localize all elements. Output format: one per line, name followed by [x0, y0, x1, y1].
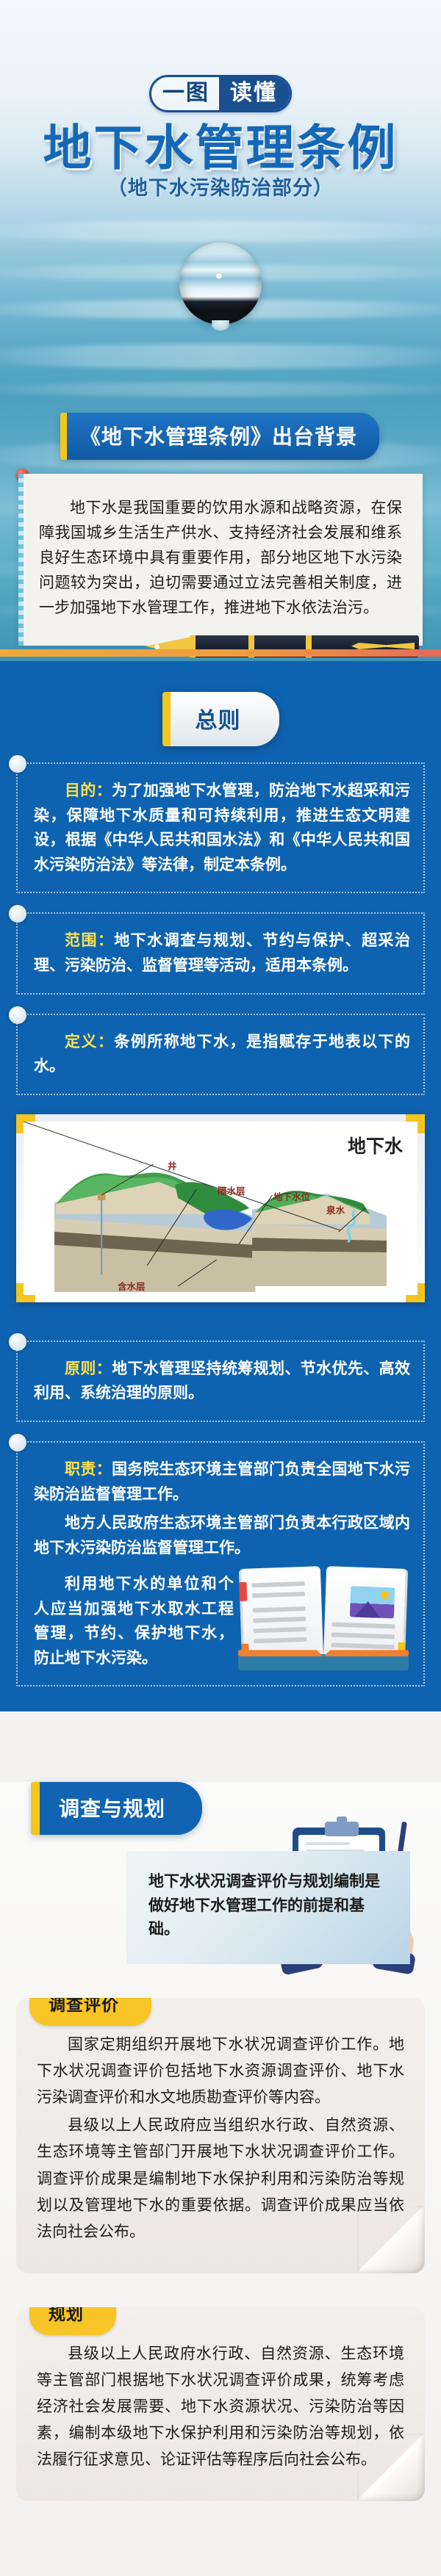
- infographic-page: 一图 读懂 地下水管理条例 （地下水污染防治部分） 《地下水管理条例》出台背景 …: [0, 0, 441, 2576]
- bullet-dot-icon: [9, 1434, 26, 1451]
- badge-right-text: 读懂: [219, 77, 290, 110]
- diagram-label-aquiclude: 隔水层: [218, 1183, 245, 1197]
- diagram-label-water-table: 地下水位: [273, 1189, 310, 1203]
- badge-left-text: 一图: [151, 77, 219, 110]
- section-header-survey-label: 调查与规划: [40, 1782, 202, 1835]
- item-paragraph: 定义：条例所称地下水，是指赋存于地表以下的水。: [34, 1030, 410, 1079]
- card-paragraph-1: 县级以上人民政府水行政、自然资源、生态环境等主管部门根据地下水状况调查评价成果，…: [37, 2341, 404, 2474]
- list-item: 目的：为了加强地下水管理，防治地下水超采和污染，保障地下水质量和可持续利用，推进…: [16, 762, 425, 893]
- pill-accent-bar: [31, 1782, 40, 1835]
- background-paragraph: 地下水是我国重要的饮用水源和战略资源，在保障我国城乡生活生产供水、支持经济社会发…: [39, 496, 402, 621]
- open-book-icon: [238, 1560, 409, 1670]
- bullet-dot-icon: [9, 1006, 26, 1024]
- water-droplet-icon: [179, 242, 262, 325]
- item-paragraph-2: 地方人民政府生态环境主管部门负责本行政区域内地下水污染防治监督管理工作。: [34, 1511, 410, 1560]
- item-keyword: 原则：: [65, 1360, 112, 1377]
- item-paragraph: 职责：国务院生态环境主管部门负责全国地下水污染防治监督管理工作。: [34, 1457, 410, 1507]
- diagram-label-aquifer: 含水层: [118, 1279, 146, 1293]
- read-in-one-picture-badge: 一图 读懂: [0, 75, 441, 112]
- list-item: 定义：条例所称地下水，是指赋存于地表以下的水。: [16, 1014, 425, 1095]
- item-keyword: 目的：: [65, 782, 112, 799]
- general-provisions-section: 总则 目的：为了加强地下水管理，防治地下水超采和污染，保障地下水质量和可持续利用…: [0, 661, 441, 1711]
- item-keyword: 定义：: [65, 1033, 114, 1050]
- bullet-dot-icon: [9, 1333, 26, 1351]
- section-header-general-label: 总则: [171, 692, 279, 746]
- diagram-label-spring: 泉水: [326, 1202, 345, 1216]
- list-item: 职责：国务院生态环境主管部门负责全国地下水污染防治监督管理工作。 地方人民政府生…: [16, 1441, 425, 1686]
- page-subtitle: （地下水污染防治部分）: [0, 172, 441, 201]
- section-header-background: 《地下水管理条例》出台背景: [60, 413, 379, 460]
- card-paragraph-1: 国家定期组织开展地下水状况调查评价工作。地下水状况调查评价包括地下水资源调查评价…: [37, 2032, 404, 2111]
- item-paragraph-3: 利用地下水的单位和个人应当加强地下水取水工程管理，节约、保护地下水，防止地下水污…: [34, 1572, 234, 1670]
- item-paragraph: 原则：地下水管理坚持统筹规划、节水优先、高效利用、系统治理的原则。: [34, 1357, 410, 1406]
- item-paragraph: 范围：地下水调查与规划、节约与保护、超采治理、污染防治、监督管理等活动，适用本条…: [34, 928, 410, 978]
- diagram-label-well: 井: [168, 1158, 177, 1172]
- item-keyword: 范围：: [65, 932, 114, 949]
- general-provisions-list: 目的：为了加强地下水管理，防治地下水超采和污染，保障地下水质量和可持续利用，推进…: [0, 746, 441, 1095]
- hero-banner: 一图 读懂 地下水管理条例 （地下水污染防治部分） 《地下水管理条例》出台背景 …: [0, 0, 441, 661]
- list-item: 原则：地下水管理坚持统筹规划、节水优先、高效利用、系统治理的原则。: [16, 1341, 425, 1422]
- general-provisions-list-2: 原则：地下水管理坚持统筹规划、节水优先、高效利用、系统治理的原则。 职责：国务院…: [0, 1324, 441, 1687]
- planning-card-holder: 规划 县级以上人民政府水行政、自然资源、生态环境等主管部门根据地下水状况调查评价…: [0, 2307, 441, 2502]
- bullet-dot-icon: [9, 755, 26, 773]
- page-curl-decoration: [357, 2434, 425, 2501]
- survey-evaluation-card-holder: 调查评价 国家定期组织开展地下水状况调查评价工作。地下水状况调查评价包括地下水资…: [0, 1998, 441, 2273]
- item-paragraph: 目的：为了加强地下水管理，防治地下水超采和污染，保障地下水质量和可持续利用，推进…: [34, 779, 410, 877]
- card-stripe-decoration: [18, 474, 24, 646]
- survey-and-planning-section: 调查与规划 地下水状况调查评价与规划编制是做好地下水管理工作的前提和基础。 调查…: [0, 1782, 441, 2530]
- card-tag-planning: 规划: [29, 2307, 116, 2335]
- list-item: 范围：地下水调查与规划、节约与保护、超采治理、污染防治、监督管理等活动，适用本条…: [16, 912, 425, 994]
- section-header-survey: 调查与规划: [31, 1782, 441, 1835]
- section-header-general: 总则: [162, 692, 279, 746]
- survey-intro-text: 地下水状况调查评价与规划编制是做好地下水管理工作的前提和基础。: [148, 1870, 388, 1942]
- pill-accent-bar: [162, 692, 171, 746]
- survey-evaluation-card: 调查评价 国家定期组织开展地下水状况调查评价工作。地下水状况调查评价包括地下水资…: [16, 1998, 425, 2273]
- background-text-card: 地下水是我国重要的饮用水源和战略资源，在保障我国城乡生活生产供水、支持经济社会发…: [18, 474, 423, 646]
- groundwater-diagram: 地下水 井 隔水层 地下水位 泉水 含水层: [16, 1114, 425, 1302]
- bullet-dot-icon: [9, 905, 26, 923]
- pill-accent-bar: [60, 413, 67, 460]
- orange-divider: [0, 649, 441, 657]
- survey-intro-box: 地下水状况调查评价与规划编制是做好地下水管理工作的前提和基础。: [126, 1851, 410, 1964]
- planning-card: 规划 县级以上人民政府水行政、自然资源、生态环境等主管部门根据地下水状况调查评价…: [16, 2307, 425, 2502]
- card-paragraph-2: 县级以上人民政府应当组织水行政、自然资源、生态环境等主管部门开展地下水状况调查评…: [37, 2113, 404, 2245]
- water-droplet-splash-icon: [212, 320, 229, 331]
- page-curl-decoration: [357, 2206, 425, 2273]
- page-title: 地下水管理条例: [0, 109, 441, 179]
- item-keyword: 职责：: [65, 1461, 112, 1478]
- section-header-background-label: 《地下水管理条例》出台背景: [67, 413, 379, 460]
- card-tag-survey-evaluation: 调查评价: [29, 1998, 151, 2026]
- diagram-title: 地下水: [348, 1132, 403, 1158]
